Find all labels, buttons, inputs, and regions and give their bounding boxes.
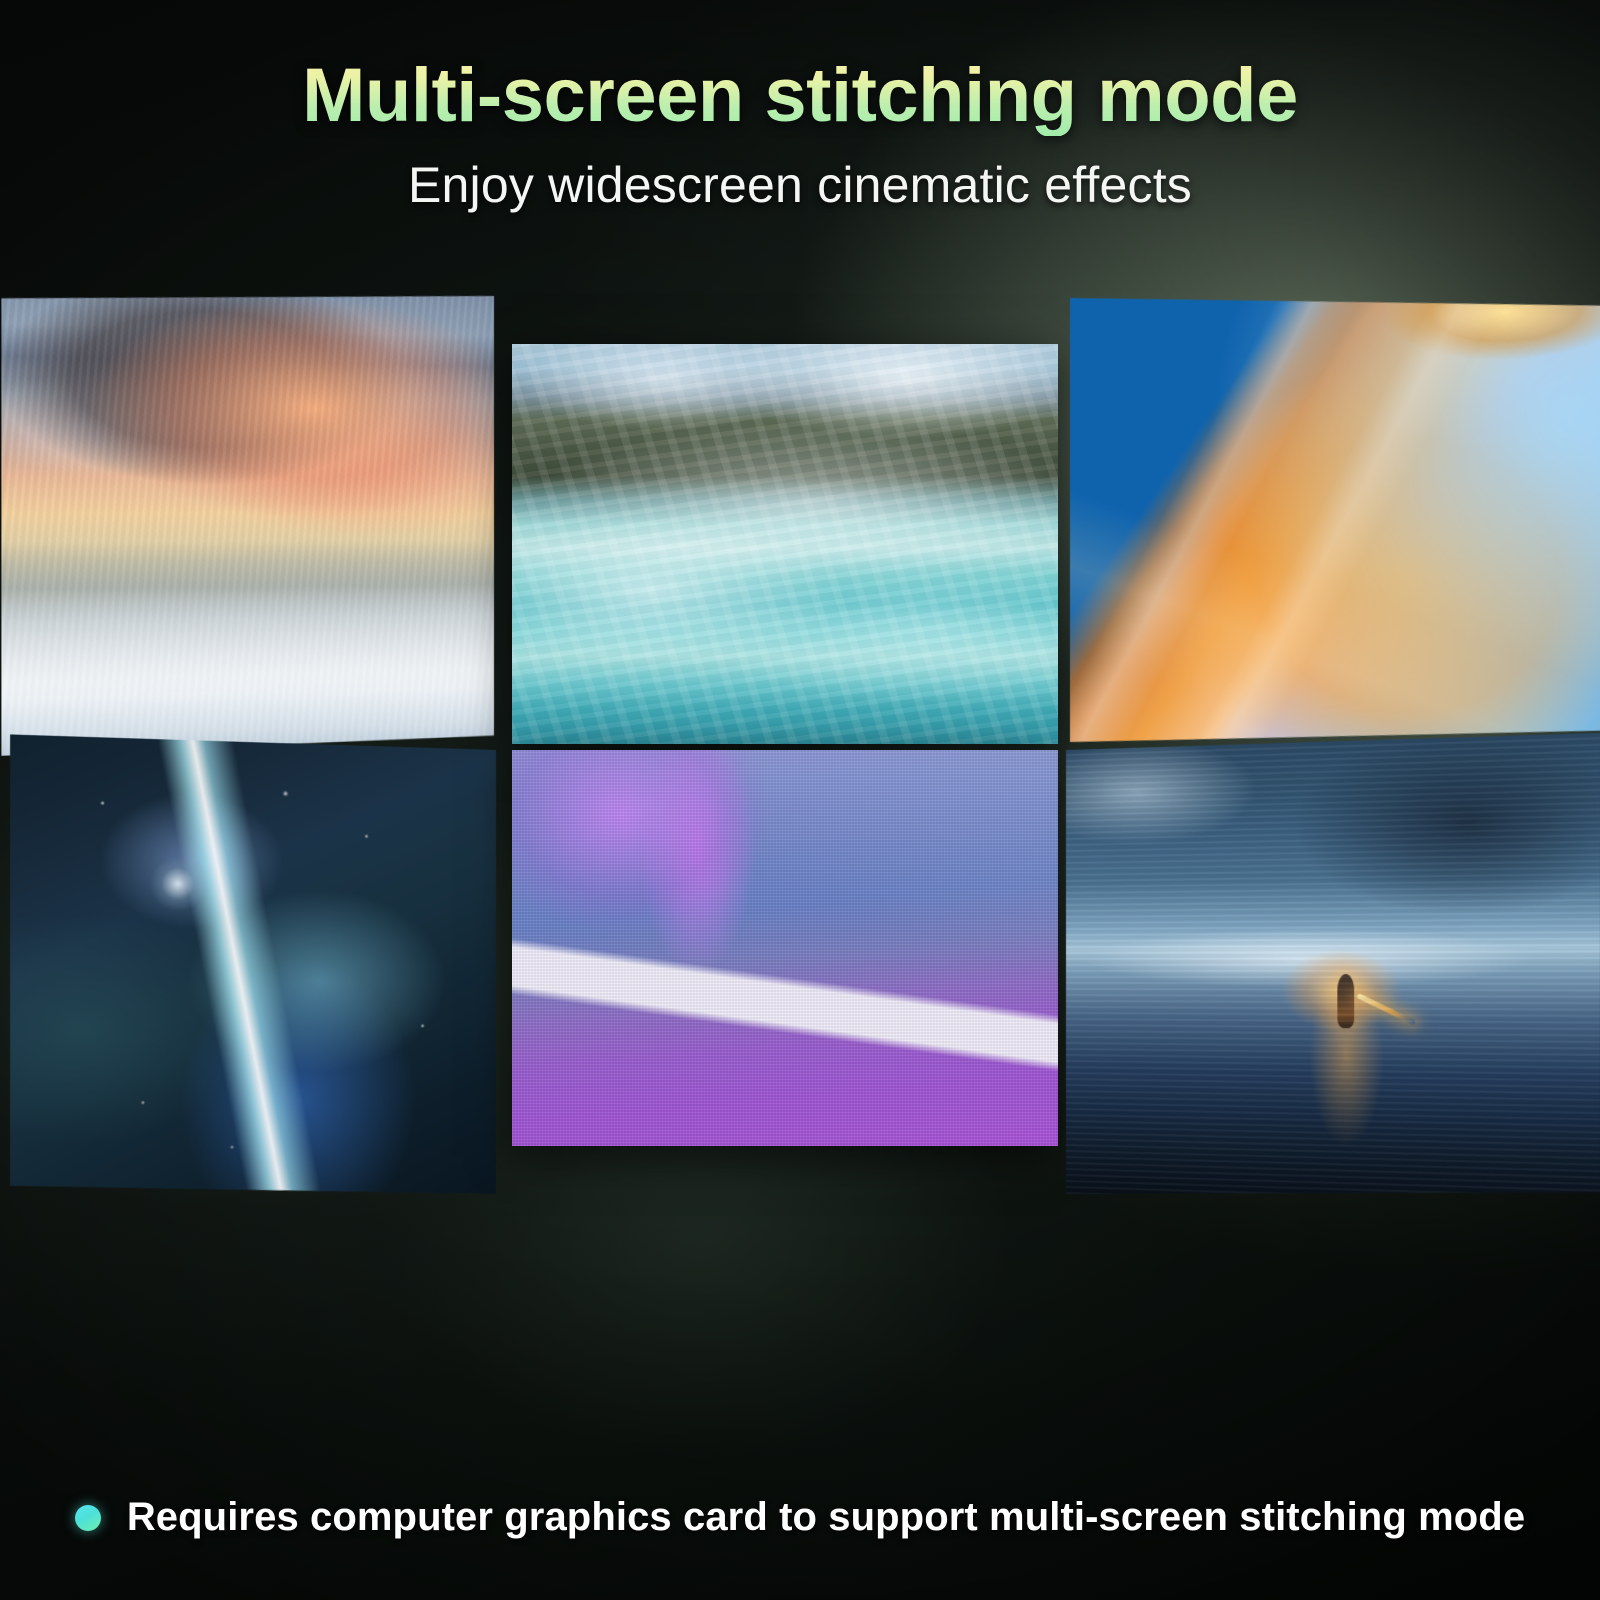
display-panel-bottom-center[interactable] [512,750,1058,1146]
wallpaper-fantasy-archer [10,734,496,1209]
header-block: Multi-screen stitching mode Enjoy widesc… [0,0,1600,214]
page-title: Multi-screen stitching mode [0,56,1600,136]
page-subtitle: Enjoy widescreen cinematic effects [0,156,1600,214]
bullet-dot-icon [75,1505,101,1531]
wallpaper-frozen-lake [1,280,494,756]
display-panel-top-left[interactable] [1,280,494,756]
display-panel-top-right[interactable] [1070,281,1600,759]
wallpaper-lone-figure [1066,733,1600,1211]
wallpaper-fluid-abstract [1070,281,1600,759]
footer-note: Requires computer graphics card to suppo… [0,1495,1600,1540]
display-panel-bottom-left[interactable] [10,734,496,1209]
promo-slide: Multi-screen stitching mode Enjoy widesc… [0,0,1600,1600]
figure-silhouette [1338,974,1355,1028]
wallpaper-purple-abstract [512,750,1058,1146]
wallpaper-turquoise-beach [512,344,1058,744]
display-array [0,268,1600,1228]
display-panel-bottom-right[interactable] [1066,733,1600,1211]
display-panel-top-center[interactable] [512,344,1058,744]
footer-note-text: Requires computer graphics card to suppo… [127,1495,1525,1540]
